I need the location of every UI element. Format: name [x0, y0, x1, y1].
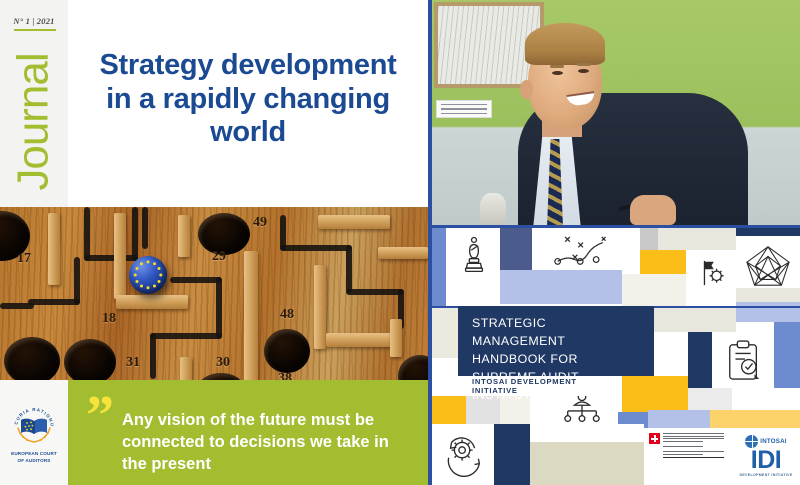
portrait-photo [432, 0, 800, 225]
maze-groove [170, 277, 222, 283]
person-hair [525, 23, 605, 65]
maze-hole [64, 339, 116, 380]
clipboard-check-icon [724, 338, 764, 384]
maze-hole [4, 337, 60, 380]
cover-tile [494, 424, 530, 485]
maze-groove [142, 207, 148, 249]
eca-name-line-1: EUROPEAN COURT [11, 451, 57, 457]
maze-hole [398, 355, 428, 380]
pentagon-network-icon [742, 242, 794, 290]
cover-tile [736, 288, 800, 302]
maze-stick [48, 213, 60, 285]
journal-spine: N° 1 | 2021 Journal [0, 0, 68, 207]
eca-logo-text: EUROPEAN COURT OF AUDITORS [11, 451, 57, 463]
wall-sign [436, 100, 492, 118]
cover-tile [640, 250, 686, 274]
cover-tile [710, 410, 800, 428]
maze-number: 30 [216, 355, 230, 371]
right-column: STRATEGIC MANAGEMENT HANDBOOK FOR SUPREM… [428, 0, 800, 485]
vase [480, 193, 506, 225]
eu-flag-ball-icon [129, 256, 167, 294]
swiss-confederation-logo [644, 428, 728, 483]
cover-tile [622, 274, 686, 308]
cover-tile [648, 410, 710, 428]
cover-tile [774, 322, 800, 388]
maze-groove [132, 207, 138, 261]
journal-wordmark: Journal [0, 34, 68, 207]
maze-stick [244, 251, 258, 380]
maze-groove [28, 299, 80, 305]
quote-text: Any vision of the future must be connect… [122, 410, 416, 475]
european-court-of-auditors-logo: CURIA RATIONUM [8, 401, 60, 449]
maze-stick [178, 215, 190, 257]
strategy-path-icon [550, 232, 616, 272]
cover-tile [500, 270, 622, 304]
issue-underline-rule [14, 29, 56, 31]
maze-stick [390, 319, 402, 357]
person-hand [630, 195, 676, 225]
maze-groove [84, 207, 90, 261]
maze-groove [346, 289, 404, 295]
idi-acronym: IDI [751, 448, 781, 473]
cover-tile [654, 332, 688, 378]
maze-stick [378, 247, 428, 259]
cover-tile [736, 302, 800, 322]
gear-flag-icon [696, 256, 726, 290]
handbook-cover: STRATEGIC MANAGEMENT HANDBOOK FOR SUPREM… [432, 228, 800, 485]
maze-number: 29 [212, 249, 226, 265]
maze-number: 31 [126, 355, 140, 371]
issue-number-label: N° 1 | 2021 [0, 16, 68, 26]
person-eyebrow [577, 63, 591, 66]
maze-stick [180, 357, 192, 380]
cover-tile [658, 228, 736, 250]
maze-number: 49 [253, 215, 267, 231]
maze-groove [150, 333, 222, 339]
maze-number: 17 [17, 251, 31, 267]
maze-groove [74, 257, 80, 305]
page-title: Strategy development in a rapidly changi… [86, 49, 410, 151]
person-ear [520, 80, 533, 99]
globe-icon [745, 435, 758, 448]
headline-area: Strategy development in a rapidly changi… [68, 0, 428, 207]
cover-tile [688, 332, 712, 388]
intosai-idi-logo: INTOSAI IDI DEVELOPMENT INITIATIVE [732, 428, 800, 483]
cover-tile [500, 228, 532, 270]
handbook-subtitle-box: INTOSAI DEVELOPMENT INITIATIVE [458, 376, 622, 396]
cover-tile [732, 388, 800, 410]
swiss-logo-text [663, 433, 724, 483]
quote-band: ” Any vision of the future must be conne… [68, 380, 428, 485]
handbook-title-box: STRATEGIC MANAGEMENT HANDBOOK FOR SUPREM… [458, 306, 654, 376]
maze-number: 38 [278, 371, 292, 380]
maze-groove [280, 245, 352, 251]
maze-stick [326, 333, 398, 347]
process-gear-icon [438, 428, 490, 478]
cover-tile [432, 396, 466, 424]
maze-groove [346, 245, 352, 293]
maze-groove [150, 333, 156, 379]
eca-logo-block: CURIA RATIONUM [0, 380, 68, 485]
maze-groove [0, 303, 34, 309]
journal-wordmark-text: Journal [12, 53, 56, 190]
cover-tile [432, 358, 458, 396]
left-column: N° 1 | 2021 Journal Strategy development… [0, 0, 428, 485]
maze-stick [318, 215, 390, 229]
chess-bishop-icon [458, 234, 490, 274]
maze-number: 18 [102, 311, 116, 327]
maze-groove [216, 277, 222, 339]
person-eye [552, 71, 563, 75]
maze-hole [198, 373, 244, 380]
journal-cover-page: N° 1 | 2021 Journal Strategy development… [0, 0, 800, 485]
intosai-label: INTOSAI [760, 438, 786, 445]
person-eye [578, 69, 589, 73]
maze-stick [314, 265, 326, 349]
handbook-subtitle: INTOSAI DEVELOPMENT INITIATIVE [472, 377, 622, 395]
cover-tile [530, 442, 644, 485]
maze-hole [264, 329, 310, 373]
cover-tile [688, 388, 732, 410]
person-eyebrow [550, 65, 564, 68]
cover-tile [432, 306, 458, 358]
maze-number: 48 [280, 307, 294, 323]
maze-photo: 17 49 29 18 48 31 30 38 [0, 207, 428, 380]
maze-stick [114, 213, 126, 299]
quote-mark-icon: ” [86, 388, 114, 444]
maze-stick [116, 295, 188, 309]
cover-tile [446, 272, 500, 306]
idi-tagline: DEVELOPMENT INITIATIVE [739, 473, 792, 477]
swiss-cross-icon [649, 433, 660, 444]
cover-tile [736, 228, 800, 236]
cover-tile [432, 228, 446, 306]
cover-tile [654, 308, 736, 332]
cover-tile [640, 228, 658, 250]
eca-name-line-2: OF AUDITORS [11, 458, 57, 464]
